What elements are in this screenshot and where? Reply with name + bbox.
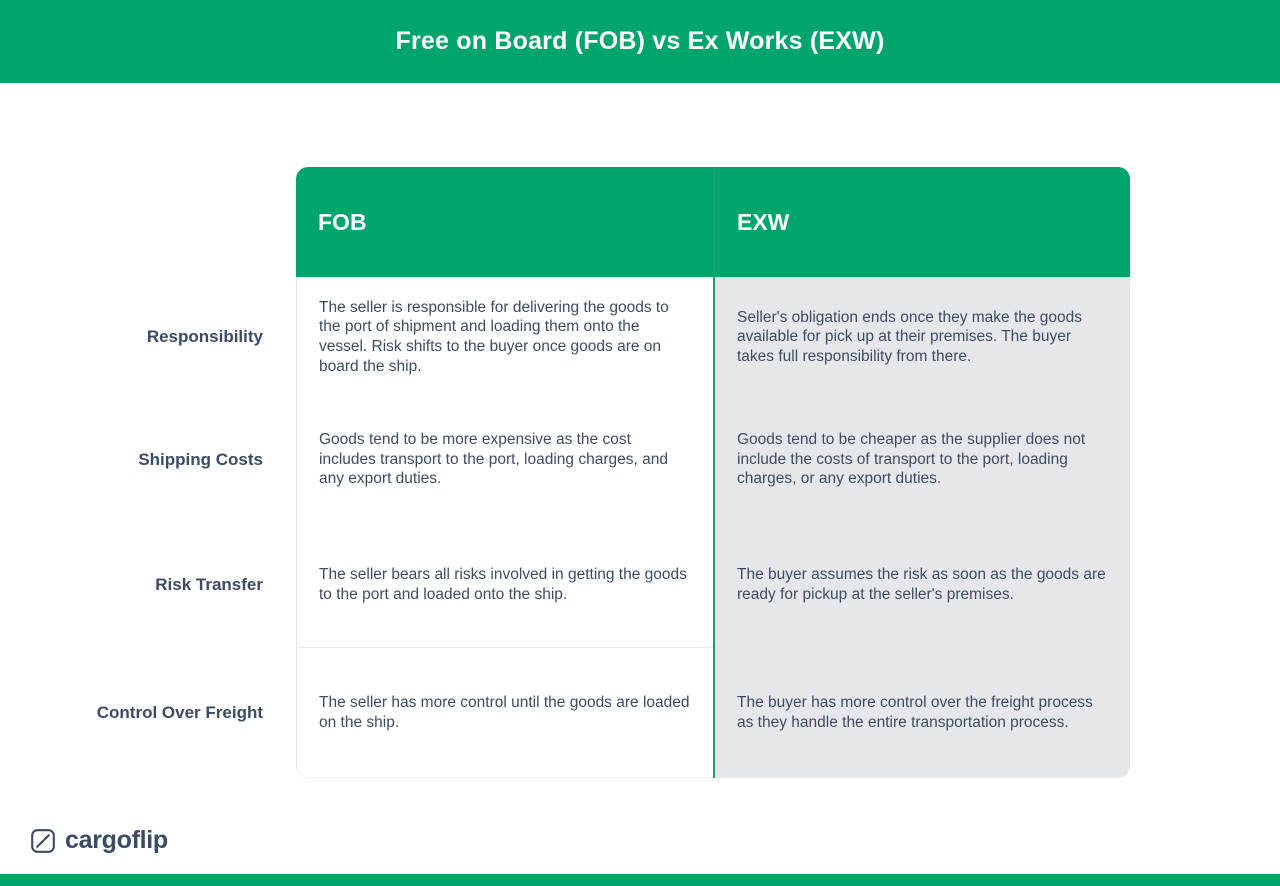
cell-exw-risk-transfer: The buyer assumes the risk as soon as th… <box>713 522 1130 647</box>
cell-fob-control-over-freight: The seller has more control until the go… <box>296 647 713 778</box>
cell-exw-responsibility: Seller's obligation ends once they make … <box>713 277 1130 397</box>
cell-exw-control-over-freight: The buyer has more control over the frei… <box>713 647 1130 778</box>
cell-fob-responsibility: The seller is responsible for delivering… <box>296 277 713 397</box>
cell-fob-shipping-costs: Goods tend to be more expensive as the c… <box>296 397 713 522</box>
comparison-grid: FOB EXW Responsibility The seller is res… <box>0 167 1130 778</box>
cell-text: Goods tend to be more expensive as the c… <box>319 430 691 489</box>
cell-text: The seller has more control until the go… <box>319 693 691 732</box>
page-title: Free on Board (FOB) vs Ex Works (EXW) <box>396 27 885 56</box>
column-header-fob-label: FOB <box>318 209 367 236</box>
comparison-table: FOB EXW Responsibility The seller is res… <box>0 167 1280 778</box>
cell-text: The buyer has more control over the frei… <box>737 693 1108 732</box>
column-header-exw-label: EXW <box>737 209 789 236</box>
cargoflip-logo-icon <box>30 828 56 854</box>
cell-text: The seller bears all risks involved in g… <box>319 565 691 604</box>
row-label-control-over-freight: Control Over Freight <box>0 647 296 778</box>
cell-text: The buyer assumes the risk as soon as th… <box>737 565 1108 604</box>
header-label-spacer <box>0 167 296 277</box>
column-header-exw: EXW <box>713 167 1130 277</box>
row-label-responsibility: Responsibility <box>0 277 296 397</box>
cell-fob-risk-transfer: The seller bears all risks involved in g… <box>296 522 713 647</box>
row-label-risk-transfer: Risk Transfer <box>0 522 296 647</box>
cell-exw-shipping-costs: Goods tend to be cheaper as the supplier… <box>713 397 1130 522</box>
brand-logo: cargoflip <box>30 826 168 855</box>
brand-name: cargoflip <box>65 826 168 855</box>
cell-text: Goods tend to be cheaper as the supplier… <box>737 430 1108 489</box>
comparison-infographic-page: Free on Board (FOB) vs Ex Works (EXW) FO… <box>0 0 1280 886</box>
row-label-shipping-costs: Shipping Costs <box>0 397 296 522</box>
cell-text: Seller's obligation ends once they make … <box>737 308 1108 367</box>
cell-text: The seller is responsible for delivering… <box>319 298 691 376</box>
page-footer-bar <box>0 874 1280 886</box>
column-header-fob: FOB <box>296 167 713 277</box>
page-header-banner: Free on Board (FOB) vs Ex Works (EXW) <box>0 0 1280 83</box>
